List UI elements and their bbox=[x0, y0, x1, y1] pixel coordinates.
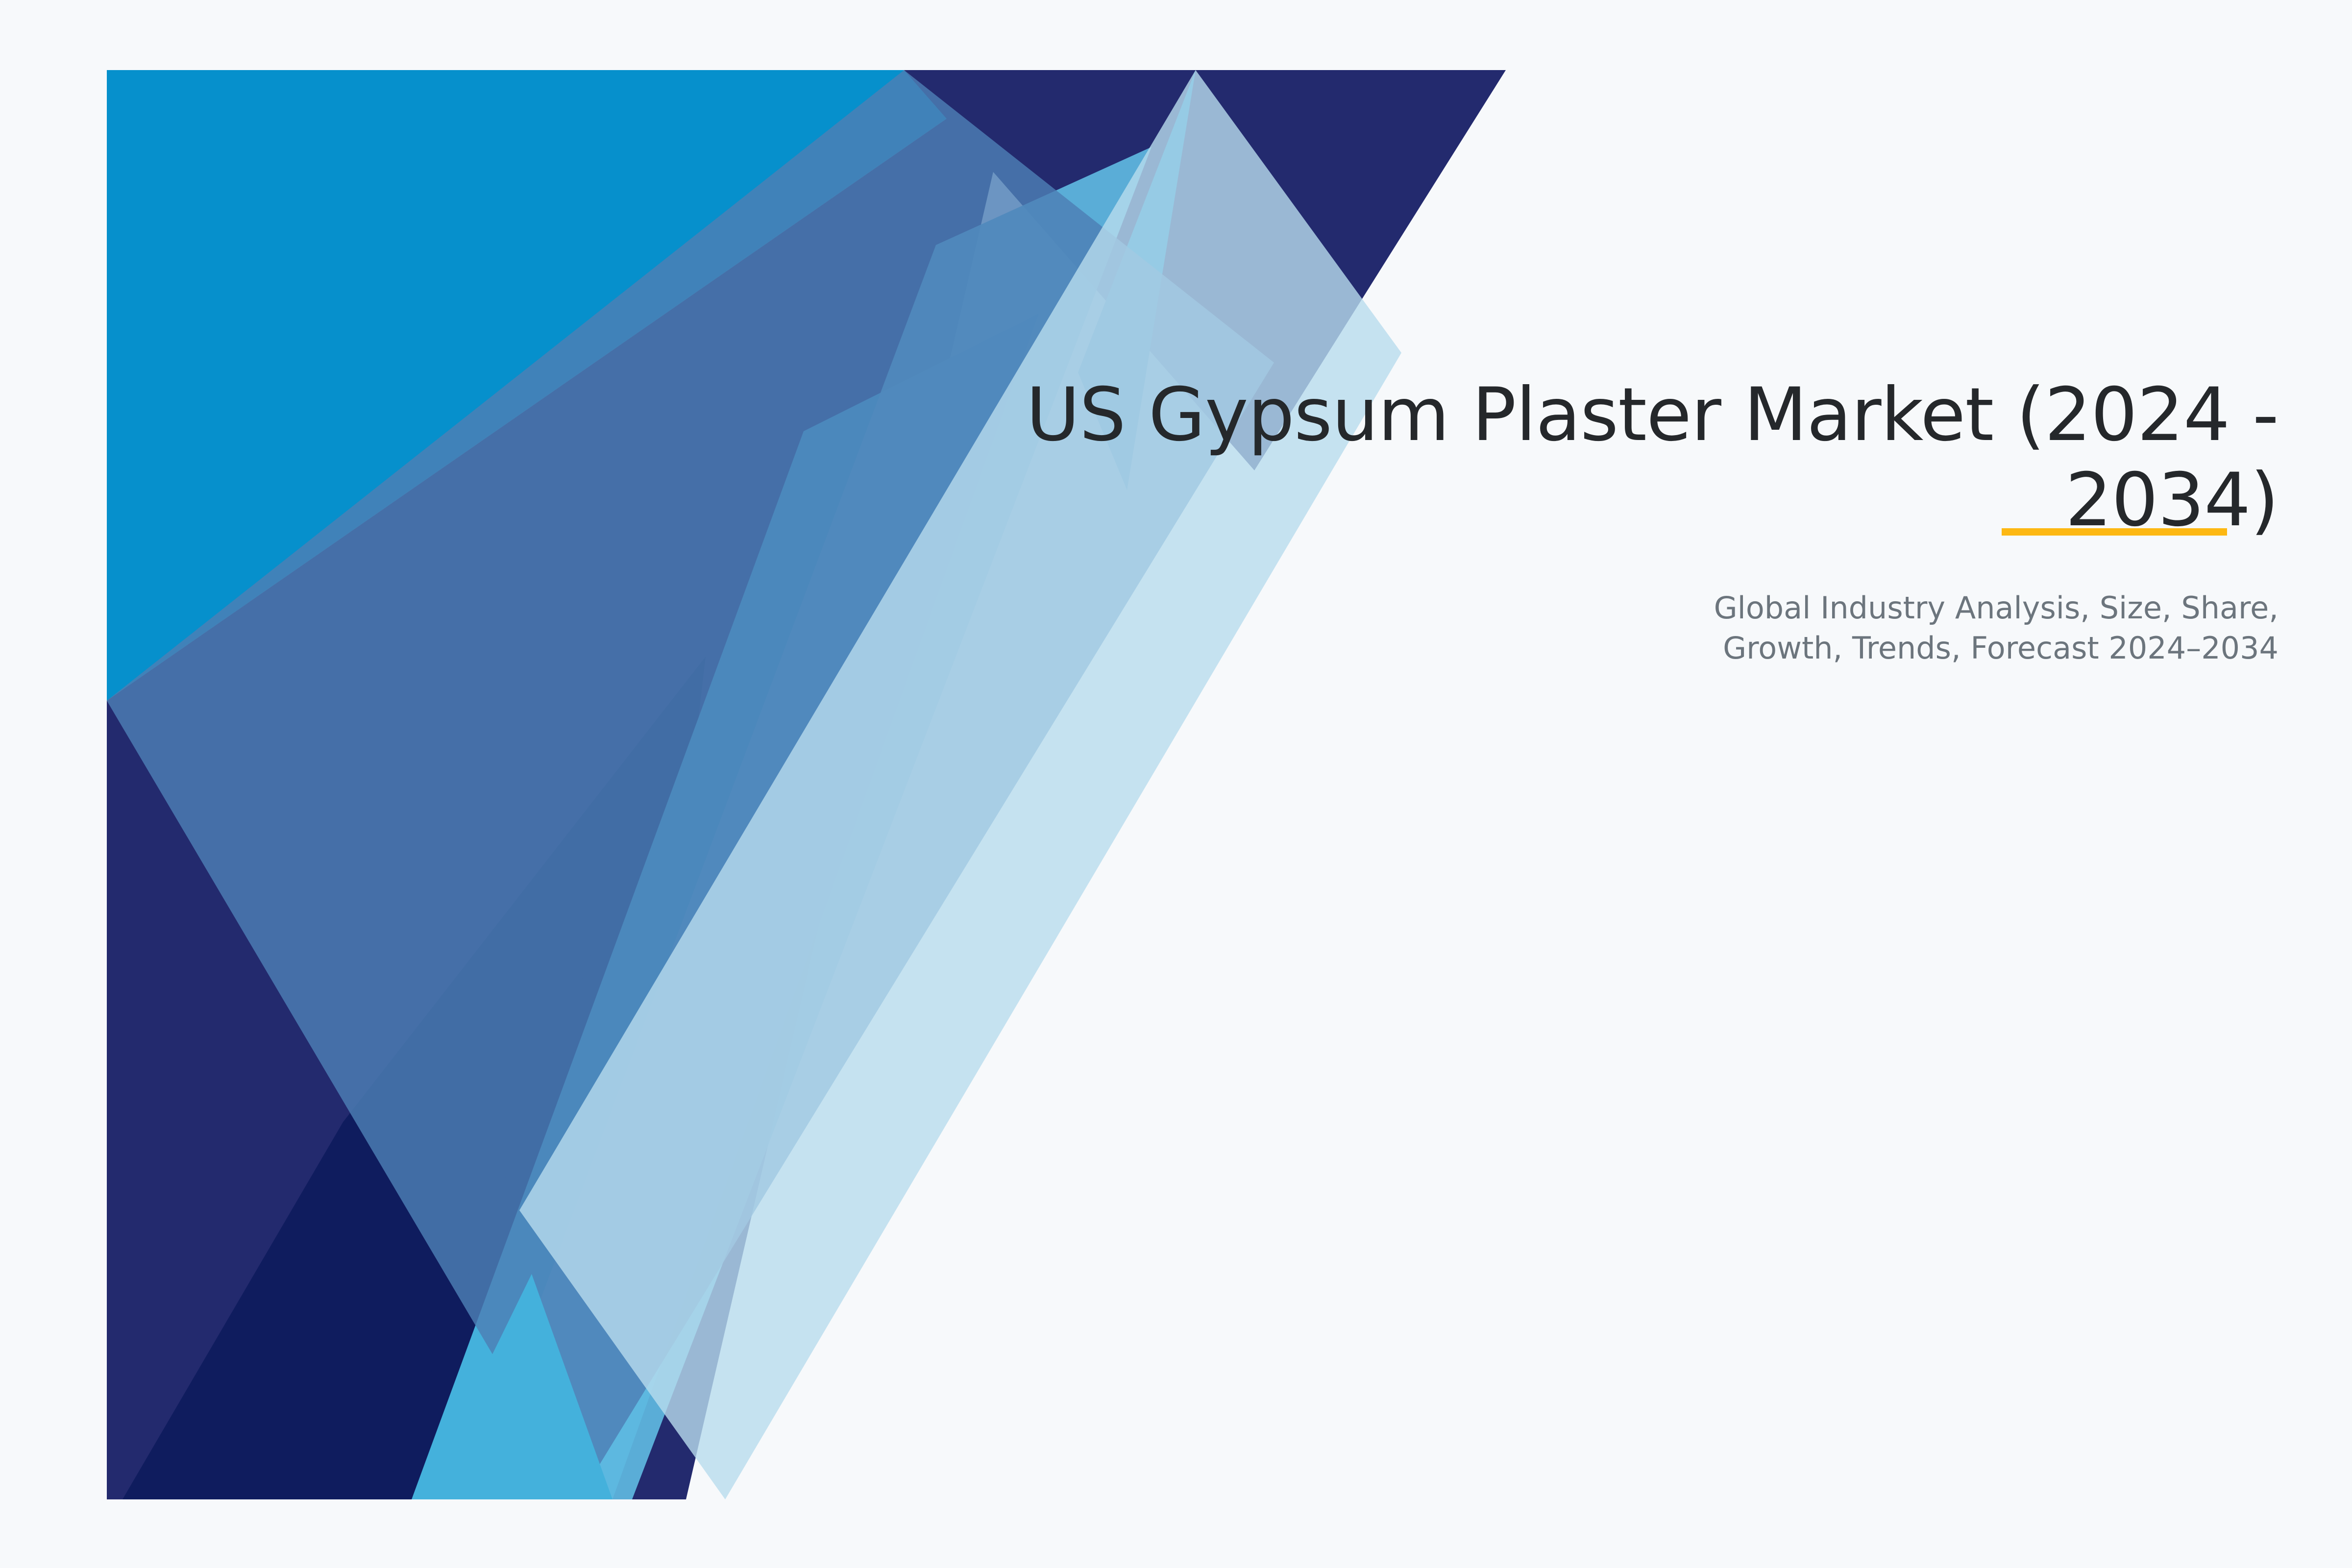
abstract-geometric-cover-graphic bbox=[0, 0, 2352, 1568]
page-subtitle: Global Industry Analysis, Size, Share, G… bbox=[931, 543, 2278, 669]
page-title: US Gypsum Plaster Market (2024 - 2034) bbox=[931, 372, 2278, 543]
cover-text-block: US Gypsum Plaster Market (2024 - 2034) G… bbox=[931, 372, 2278, 669]
cover-page: US Gypsum Plaster Market (2024 - 2034) G… bbox=[0, 0, 2352, 1568]
